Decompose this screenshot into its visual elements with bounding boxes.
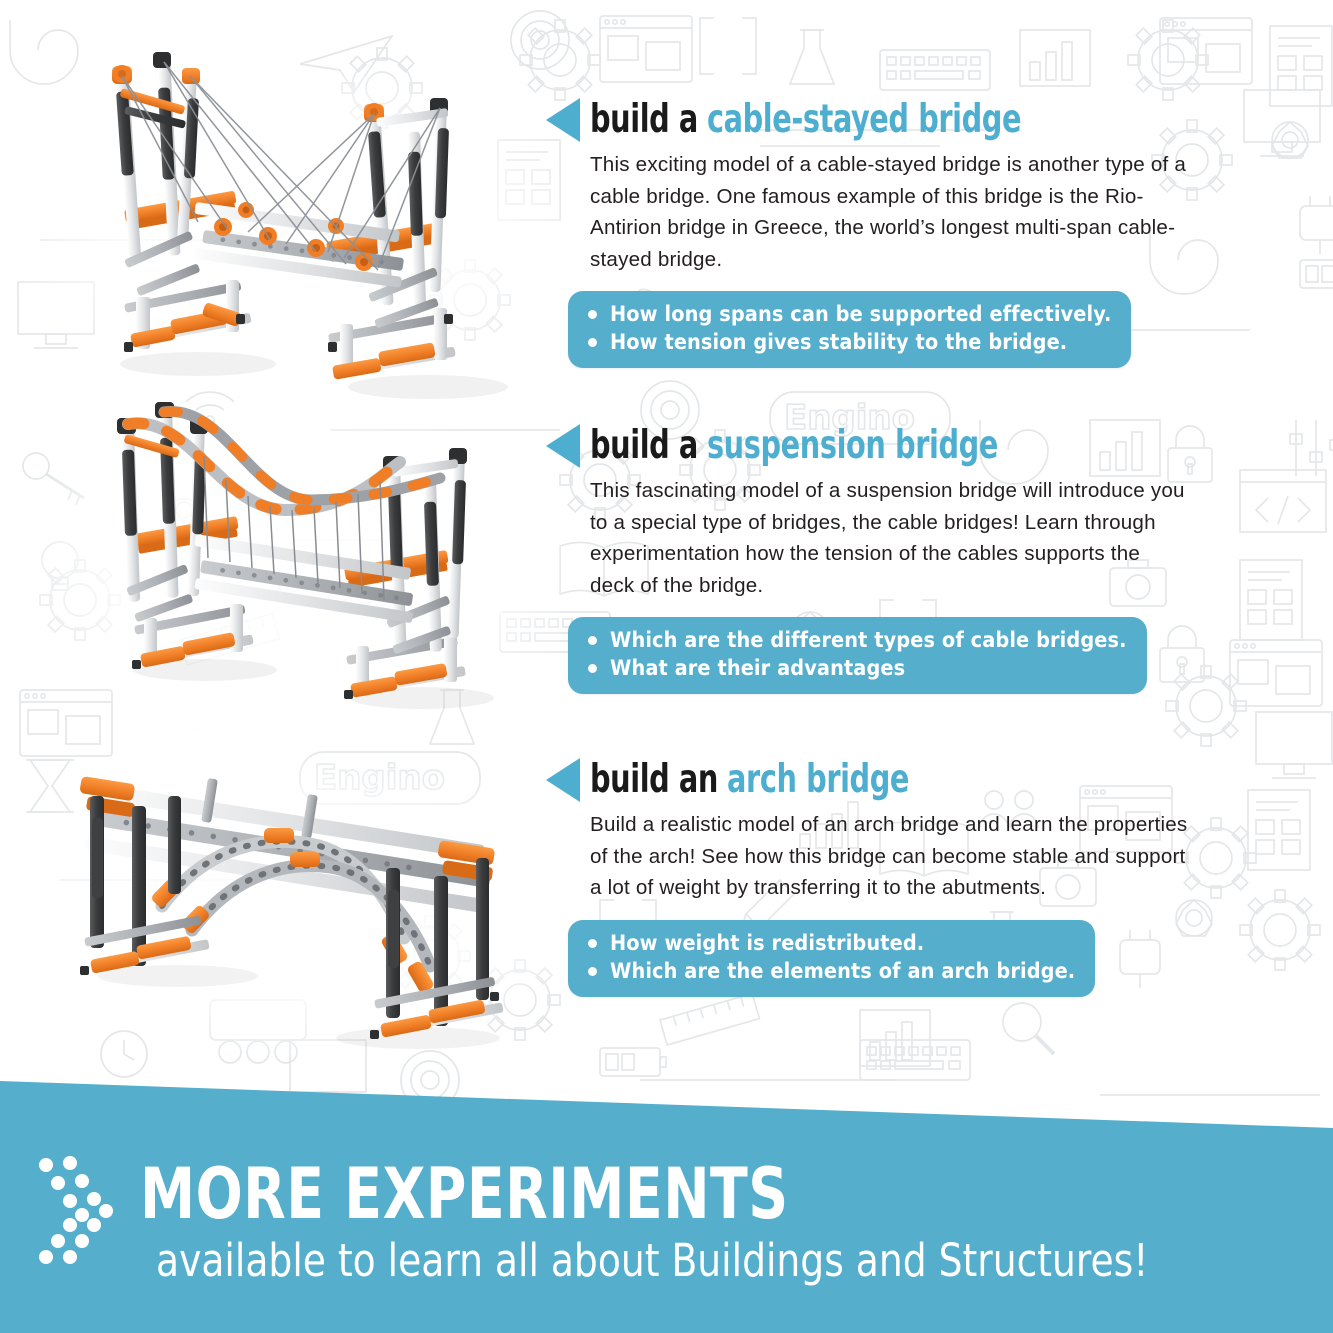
arch-bridge-model bbox=[58, 748, 538, 1063]
question-text: Which are the elements of an arch bridge… bbox=[610, 958, 1075, 986]
section-3-question-box: How weight is redistributed. Which are t… bbox=[568, 920, 1095, 997]
section-2-title-prefix: build a bbox=[590, 426, 698, 466]
triangle-left-icon bbox=[546, 98, 580, 142]
question-text: How tension gives stability to the bridg… bbox=[610, 329, 1067, 357]
section-1-title-highlight: cable-stayed bridge bbox=[707, 100, 1021, 140]
suspension-bridge-model bbox=[100, 398, 530, 728]
bullet-dot-icon bbox=[588, 310, 597, 319]
section-3-question-2: Which are the elements of an arch bridge… bbox=[588, 958, 1075, 986]
section-3-body: Build a realistic model of an arch bridg… bbox=[590, 809, 1190, 904]
dotted-chevron-logo bbox=[36, 1153, 132, 1269]
section-arch: build an arch bridge Build a realistic m… bbox=[546, 756, 1206, 997]
question-text: Which are the different types of cable b… bbox=[610, 627, 1127, 655]
triangle-left-icon bbox=[546, 424, 580, 468]
bullet-dot-icon bbox=[588, 939, 597, 948]
question-text: How long spans can be supported effectiv… bbox=[610, 301, 1111, 329]
section-1-heading: build a cable-stayed bridge bbox=[546, 96, 1206, 144]
section-1-question-2: How tension gives stability to the bridg… bbox=[588, 329, 1111, 357]
section-2-question-box: Which are the different types of cable b… bbox=[568, 617, 1147, 694]
section-3-title-highlight: arch bridge bbox=[727, 760, 909, 800]
triangle-left-icon bbox=[546, 758, 580, 802]
section-2-question-2: What are their advantages bbox=[588, 655, 1127, 683]
more-experiments-banner: MORE EXPERIMENTS available to learn all … bbox=[0, 1075, 1333, 1333]
section-2-body: This fascinating model of a suspension b… bbox=[590, 475, 1190, 601]
banner-headline: MORE EXPERIMENTS bbox=[140, 1157, 1152, 1231]
bullet-dot-icon bbox=[588, 636, 597, 645]
section-1-title-prefix: build a bbox=[590, 100, 698, 140]
bullet-dot-icon bbox=[588, 967, 597, 976]
section-suspension: build a suspension bridge This fascinati… bbox=[546, 422, 1206, 694]
section-2-title-highlight: suspension bridge bbox=[707, 426, 998, 466]
section-3-question-1: How weight is redistributed. bbox=[588, 930, 1075, 958]
question-text: How weight is redistributed. bbox=[610, 930, 924, 958]
section-2-heading: build a suspension bridge bbox=[546, 422, 1206, 470]
section-1-question-box: How long spans can be supported effectiv… bbox=[568, 291, 1131, 368]
cable-stayed-bridge-model bbox=[78, 52, 548, 402]
section-2-question-1: Which are the different types of cable b… bbox=[588, 627, 1127, 655]
banner-subline: available to learn all about Buildings a… bbox=[156, 1235, 1211, 1287]
section-cable-stayed: build a cable-stayed bridge This excitin… bbox=[546, 96, 1206, 368]
question-text: What are their advantages bbox=[610, 655, 905, 683]
section-1-question-1: How long spans can be supported effectiv… bbox=[588, 301, 1111, 329]
bullet-dot-icon bbox=[588, 664, 597, 673]
section-3-heading: build an arch bridge bbox=[546, 756, 1206, 804]
section-3-title-prefix: build an bbox=[590, 760, 718, 800]
section-1-body: This exciting model of a cable-stayed br… bbox=[590, 149, 1190, 275]
bullet-dot-icon bbox=[588, 338, 597, 347]
